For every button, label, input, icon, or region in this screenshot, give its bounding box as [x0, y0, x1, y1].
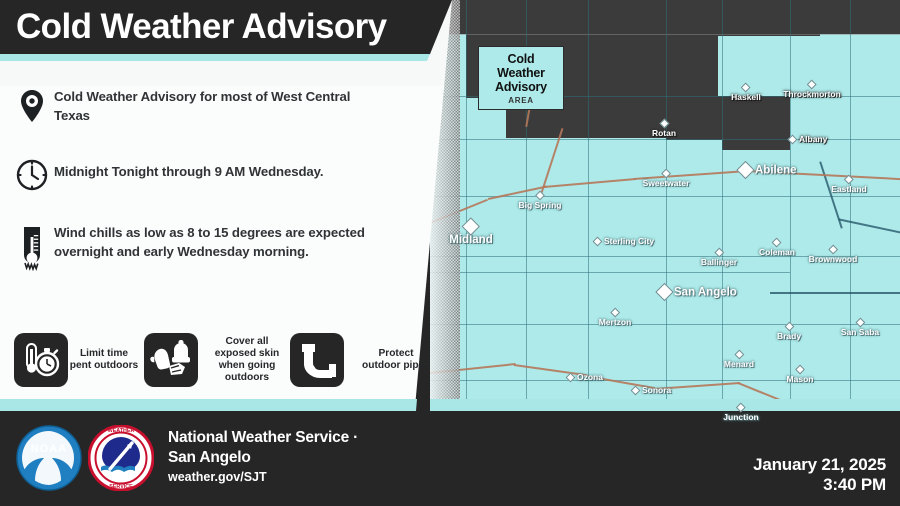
county-line-v: [588, 0, 589, 400]
city-label: Ozona: [577, 372, 603, 382]
city-marker: Rotan: [652, 120, 676, 138]
city-label: San Saba: [841, 327, 879, 337]
city-dot-icon: [807, 80, 817, 90]
city-label: Coleman: [759, 247, 795, 257]
county-line-v: [666, 0, 667, 400]
map-accent-divider: [430, 399, 900, 411]
city-dot-icon: [741, 83, 751, 93]
legend-line-1: Cold: [483, 52, 559, 66]
city-dot-icon: [795, 365, 805, 375]
city-marker: Menard: [724, 351, 754, 369]
city-marker: Brownwood: [809, 246, 858, 264]
city-marker: San Angelo: [658, 286, 737, 299]
city-dot-icon: [462, 217, 480, 235]
county-line-h: [430, 34, 900, 35]
city-label: Mertzon: [599, 317, 632, 327]
bullet-windchill: Wind chills as low as 8 to 15 degrees ar…: [10, 224, 420, 271]
city-label: Sonora: [642, 385, 671, 395]
noaa-logo: NOAA: [16, 425, 82, 496]
county-line-h: [430, 380, 900, 381]
city-marker: Midland: [449, 220, 492, 246]
tip-cover-skin-label: Cover allexposed skinwhen goingoutdoors: [202, 336, 292, 384]
city-dot-icon: [855, 318, 865, 328]
tip-limit-time: Limit timepent outdoors: [14, 333, 156, 387]
city-dot-icon: [631, 385, 641, 395]
city-dot-icon: [736, 161, 754, 179]
timestamp: January 21, 2025 3:40 PM: [753, 455, 886, 495]
city-marker: Sonora: [632, 385, 671, 395]
nws-logo: WEATHER SERVICE: [88, 425, 154, 496]
city-dot-icon: [610, 308, 620, 318]
tip-protect-pipes: Protectoutdoor pipes: [290, 333, 442, 387]
map-legend: Cold Weather Advisory AREA: [478, 46, 564, 110]
tip-cover-skin: Cover allexposed skinwhen goingoutdoors: [144, 333, 292, 387]
city-dot-icon: [828, 245, 838, 255]
city-label: Sweetwater: [643, 178, 690, 188]
tip-protect-pipes-label: Protectoutdoor pipes: [350, 348, 442, 372]
panel-accent-divider: [0, 399, 452, 411]
city-dot-icon: [661, 169, 671, 179]
city-label: San Angelo: [674, 286, 737, 298]
city-marker: Haskell: [731, 84, 761, 102]
city-marker: Sweetwater: [643, 170, 690, 188]
city-marker: Brady: [777, 323, 801, 341]
bullet-timing-text: Midnight Tonight through 9 AM Wednesday.: [54, 158, 323, 182]
issue-date: January 21, 2025: [753, 455, 886, 475]
state-boundary: [770, 292, 900, 294]
city-label: Abilene: [755, 164, 797, 176]
clock-icon: [10, 158, 54, 191]
city-label: Mason: [787, 374, 814, 384]
city-marker: Eastland: [831, 176, 866, 194]
city-label: Rotan: [652, 128, 676, 138]
city-dot-icon: [655, 283, 673, 301]
page-title: Cold Weather Advisory: [16, 5, 387, 49]
city-label: Junction: [723, 412, 758, 422]
advisory-graphic: HaskellThrockmortonRotanAlbanySweetwater…: [0, 0, 900, 506]
tip-limit-time-label: Limit timepent outdoors: [52, 348, 156, 372]
city-marker: Sterling City: [594, 236, 654, 246]
mittens-hat-icon: [144, 333, 198, 387]
city-marker: Throckmorton: [783, 81, 841, 99]
svg-text:NOAA: NOAA: [31, 443, 67, 455]
city-dot-icon: [772, 238, 782, 248]
city-marker: Albany: [789, 134, 827, 144]
city-dot-icon: [593, 236, 603, 246]
dripping-pipe-icon: [290, 333, 344, 387]
issue-time: 3:40 PM: [753, 475, 886, 495]
city-marker: Mason: [787, 366, 814, 384]
legend-line-3: Advisory: [483, 80, 559, 94]
bullet-location-text: Cold Weather Advisory for most of West C…: [54, 88, 354, 125]
legend-subtitle: AREA: [483, 96, 559, 105]
bullet-location: Cold Weather Advisory for most of West C…: [10, 88, 410, 125]
county-line-v: [466, 0, 467, 400]
outside-area-band: [430, 0, 900, 34]
legend-line-2: Weather: [483, 66, 559, 80]
city-dot-icon: [535, 191, 545, 201]
city-marker: Ballinger: [701, 249, 737, 267]
city-label: Throckmorton: [783, 89, 841, 99]
location-pin-icon: [10, 88, 54, 123]
city-label: Ballinger: [701, 257, 737, 267]
city-label: Haskell: [731, 92, 761, 102]
city-dot-icon: [714, 248, 724, 258]
city-marker: Mertzon: [599, 309, 632, 327]
city-marker: Coleman: [759, 239, 795, 257]
outside-area-county-5: [714, 16, 820, 36]
city-dot-icon: [566, 372, 576, 382]
agency-line-1: National Weather Service ·: [168, 428, 358, 448]
city-marker: Junction: [723, 404, 758, 422]
city-label: Midland: [449, 234, 492, 246]
city-dot-icon: [659, 119, 669, 129]
city-label: Eastland: [831, 184, 866, 194]
city-label: Brownwood: [809, 254, 858, 264]
city-dot-icon: [788, 134, 798, 144]
agency-text: National Weather Service · San Angelo we…: [168, 428, 358, 484]
svg-text:SERVICE: SERVICE: [109, 484, 133, 490]
header-accent-rule: [0, 54, 452, 61]
city-label: Big Spring: [519, 200, 562, 210]
safety-tips: Limit timepent outdoors Cover allexposed…: [8, 333, 428, 391]
outside-area-county-4: [722, 96, 790, 150]
city-label: Brady: [777, 331, 801, 341]
bullet-timing: Midnight Tonight through 9 AM Wednesday.: [10, 158, 420, 191]
city-marker: San Saba: [841, 319, 879, 337]
city-label: Sterling City: [604, 236, 654, 246]
svg-text:WEATHER: WEATHER: [108, 428, 135, 434]
city-label: Albany: [799, 134, 827, 144]
city-marker: Abilene: [739, 164, 797, 177]
city-marker: Ozona: [567, 372, 603, 382]
city-dot-icon: [784, 322, 794, 332]
city-dot-icon: [736, 403, 746, 413]
agency-website: weather.gov/SJT: [168, 470, 358, 484]
county-line-h: [430, 324, 900, 325]
thermometer-icon: [10, 224, 54, 271]
county-line-v: [850, 0, 851, 400]
city-dot-icon: [734, 350, 744, 360]
county-line-h: [430, 272, 790, 273]
city-label: Menard: [724, 359, 754, 369]
city-marker: Big Spring: [519, 192, 562, 210]
agency-line-2: San Angelo: [168, 448, 358, 468]
city-dot-icon: [844, 175, 854, 185]
county-line-h: [430, 139, 900, 140]
county-line-v: [722, 0, 723, 400]
bullet-windchill-text: Wind chills as low as 8 to 15 degrees ar…: [54, 224, 372, 261]
